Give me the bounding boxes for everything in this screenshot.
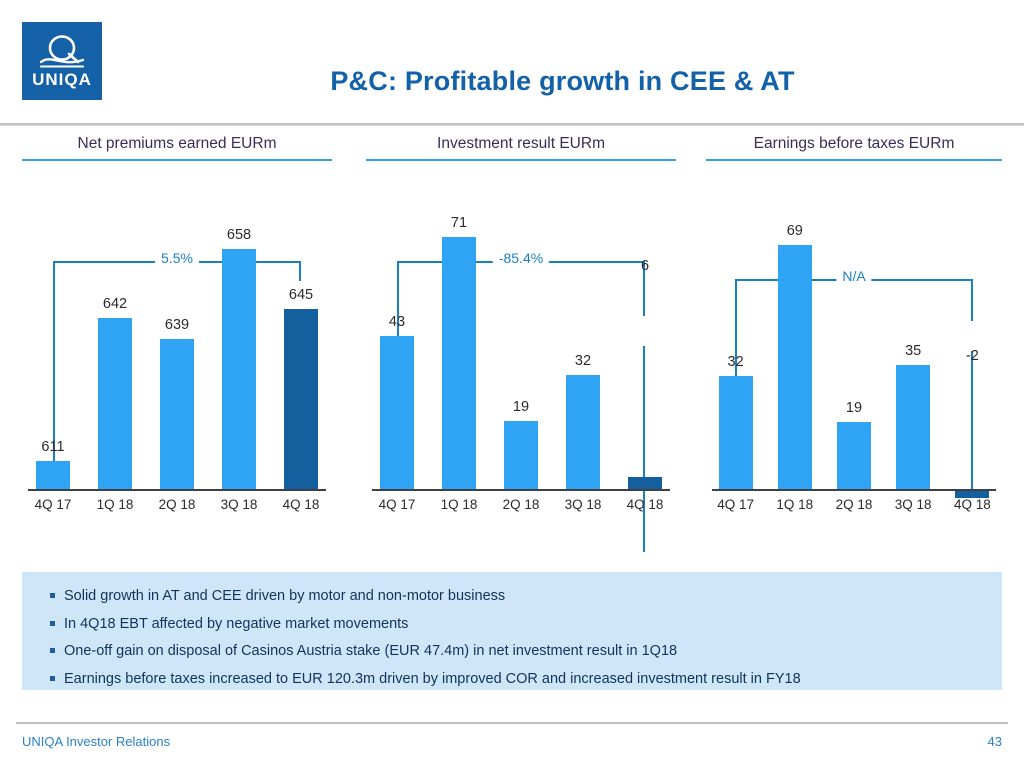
key-takeaways-box: Solid growth in AT and CEE driven by mot… [22, 572, 1002, 690]
bar-slot: 611 [25, 189, 81, 489]
page-title: P&C: Profitable growth in CEE & AT [130, 66, 995, 97]
bullet-square-icon [50, 593, 55, 598]
bullet-text: Solid growth in AT and CEE driven by mot… [64, 586, 505, 607]
bar-value: 32 [728, 354, 744, 370]
bar[interactable] [98, 318, 132, 489]
bullet-square-icon [50, 648, 55, 653]
bullet-item: Solid growth in AT and CEE driven by mot… [50, 586, 1002, 607]
bar-value: 43 [389, 314, 405, 330]
chart-investment-result: -85.4% 43 71 19 [366, 189, 676, 529]
bar-value: 611 [41, 439, 64, 455]
bar-slot: 69 [768, 189, 821, 489]
bullet-item: One-off gain on disposal of Casinos Aust… [50, 641, 1002, 662]
bar-value: 658 [227, 227, 251, 243]
bar[interactable] [896, 365, 930, 489]
panel-investment-result: Investment result EURm -85.4% 43 71 [366, 135, 676, 529]
bar-slot: 658 [211, 189, 267, 489]
bar[interactable] [504, 421, 538, 489]
x-tick: 4Q 17 [25, 497, 81, 512]
bar-group: 43 71 19 32 [366, 189, 676, 489]
bar-group: 611 642 639 658 [22, 189, 332, 489]
x-tick: 1Q 18 [431, 497, 487, 512]
bar-value: 645 [289, 287, 313, 303]
x-tick: 2Q 18 [827, 497, 880, 512]
bar-value: 19 [846, 400, 862, 416]
bar-slot: 71 [431, 189, 487, 489]
bullet-text: One-off gain on disposal of Casinos Aust… [64, 641, 677, 662]
uniqa-wordmark: UNIQA [32, 71, 92, 88]
panel-underline [22, 159, 332, 161]
x-tick: 2Q 18 [493, 497, 549, 512]
x-tick: 4Q 17 [369, 497, 425, 512]
bar-value: 35 [905, 343, 921, 359]
chart-earnings-before-taxes: N/A 32 69 19 [706, 189, 1002, 529]
bar-slot: 639 [149, 189, 205, 489]
slide-footer: UNIQA Investor Relations 43 [22, 734, 1002, 749]
bar[interactable] [837, 422, 871, 489]
bar-value: 69 [787, 223, 803, 239]
bar-slot: 35 [887, 189, 940, 489]
x-axis [372, 489, 670, 491]
panel-title: Net premiums earned EURm [22, 135, 332, 159]
bar[interactable] [778, 245, 812, 489]
bar-highlight[interactable] [628, 477, 662, 489]
footer-label: UNIQA Investor Relations [22, 734, 170, 749]
bar-value: 32 [575, 353, 591, 369]
bullet-text: Earnings before taxes increased to EUR 1… [64, 669, 801, 690]
bar-value: -2 [966, 348, 979, 364]
footer-divider [16, 722, 1008, 724]
bullet-square-icon [50, 621, 55, 626]
bar[interactable] [160, 339, 194, 489]
bar[interactable] [566, 375, 600, 489]
x-tick: 4Q 18 [617, 497, 673, 512]
uniqa-q-wave-icon [39, 35, 85, 69]
bar-slot: 43 [369, 189, 425, 489]
bar-value: 6 [641, 258, 649, 274]
slide: UNIQA P&C: Profitable growth in CEE & AT… [0, 0, 1024, 768]
bar-slot: -2 [946, 189, 999, 489]
bar-slot: 32 [709, 189, 762, 489]
x-tick: 3Q 18 [887, 497, 940, 512]
x-axis-labels: 4Q 17 1Q 18 2Q 18 3Q 18 4Q 18 [22, 497, 332, 512]
plot-area: 43 71 19 32 [366, 189, 676, 489]
bar-slot: 645 [273, 189, 329, 489]
header-divider [0, 123, 1024, 126]
x-tick: 4Q 18 [273, 497, 329, 512]
bullet-item: Earnings before taxes increased to EUR 1… [50, 669, 1002, 690]
x-axis-labels: 4Q 17 1Q 18 2Q 18 3Q 18 4Q 18 [366, 497, 676, 512]
x-axis [712, 489, 996, 491]
bullet-text: In 4Q18 EBT affected by negative market … [64, 614, 408, 635]
x-tick: 1Q 18 [768, 497, 821, 512]
bar-value: 639 [165, 317, 189, 333]
bar-slot: 32 [555, 189, 611, 489]
panel-underline [706, 159, 1002, 161]
x-tick: 3Q 18 [555, 497, 611, 512]
panel-title: Earnings before taxes EURm [706, 135, 1002, 159]
bar-slot: 19 [493, 189, 549, 489]
bar-value: 71 [451, 215, 467, 231]
panel-underline [366, 159, 676, 161]
panel-earnings-before-taxes: Earnings before taxes EURm N/A 32 69 [706, 135, 1002, 529]
bar-highlight[interactable] [284, 309, 318, 489]
bar[interactable] [719, 376, 753, 489]
panel-net-premiums: Net premiums earned EURm 5.5% 611 642 [22, 135, 332, 529]
x-tick: 4Q 18 [946, 497, 999, 512]
bar-slot: 642 [87, 189, 143, 489]
x-tick: 3Q 18 [211, 497, 267, 512]
bar[interactable] [380, 336, 414, 489]
bar-value: 642 [103, 296, 127, 312]
bar-slot: 19 [827, 189, 880, 489]
bar-slot: 6 [617, 189, 673, 489]
bar-value: 19 [513, 399, 529, 415]
bar[interactable] [222, 249, 256, 489]
x-axis-labels: 4Q 17 1Q 18 2Q 18 3Q 18 4Q 18 [706, 497, 1002, 512]
x-tick: 2Q 18 [149, 497, 205, 512]
plot-area: 32 69 19 35 [706, 189, 1002, 489]
page-number: 43 [988, 734, 1002, 749]
bar[interactable] [36, 461, 70, 489]
panel-title: Investment result EURm [366, 135, 676, 159]
uniqa-logo: UNIQA [22, 22, 102, 100]
bar[interactable] [442, 237, 476, 489]
chart-net-premiums-earned: 5.5% 611 642 639 [22, 189, 332, 529]
bullet-square-icon [50, 676, 55, 681]
plot-area: 611 642 639 658 [22, 189, 332, 489]
bar-group: 32 69 19 35 [706, 189, 1002, 489]
bullet-item: In 4Q18 EBT affected by negative market … [50, 614, 1002, 635]
x-tick: 4Q 17 [709, 497, 762, 512]
x-axis [28, 489, 326, 491]
x-tick: 1Q 18 [87, 497, 143, 512]
